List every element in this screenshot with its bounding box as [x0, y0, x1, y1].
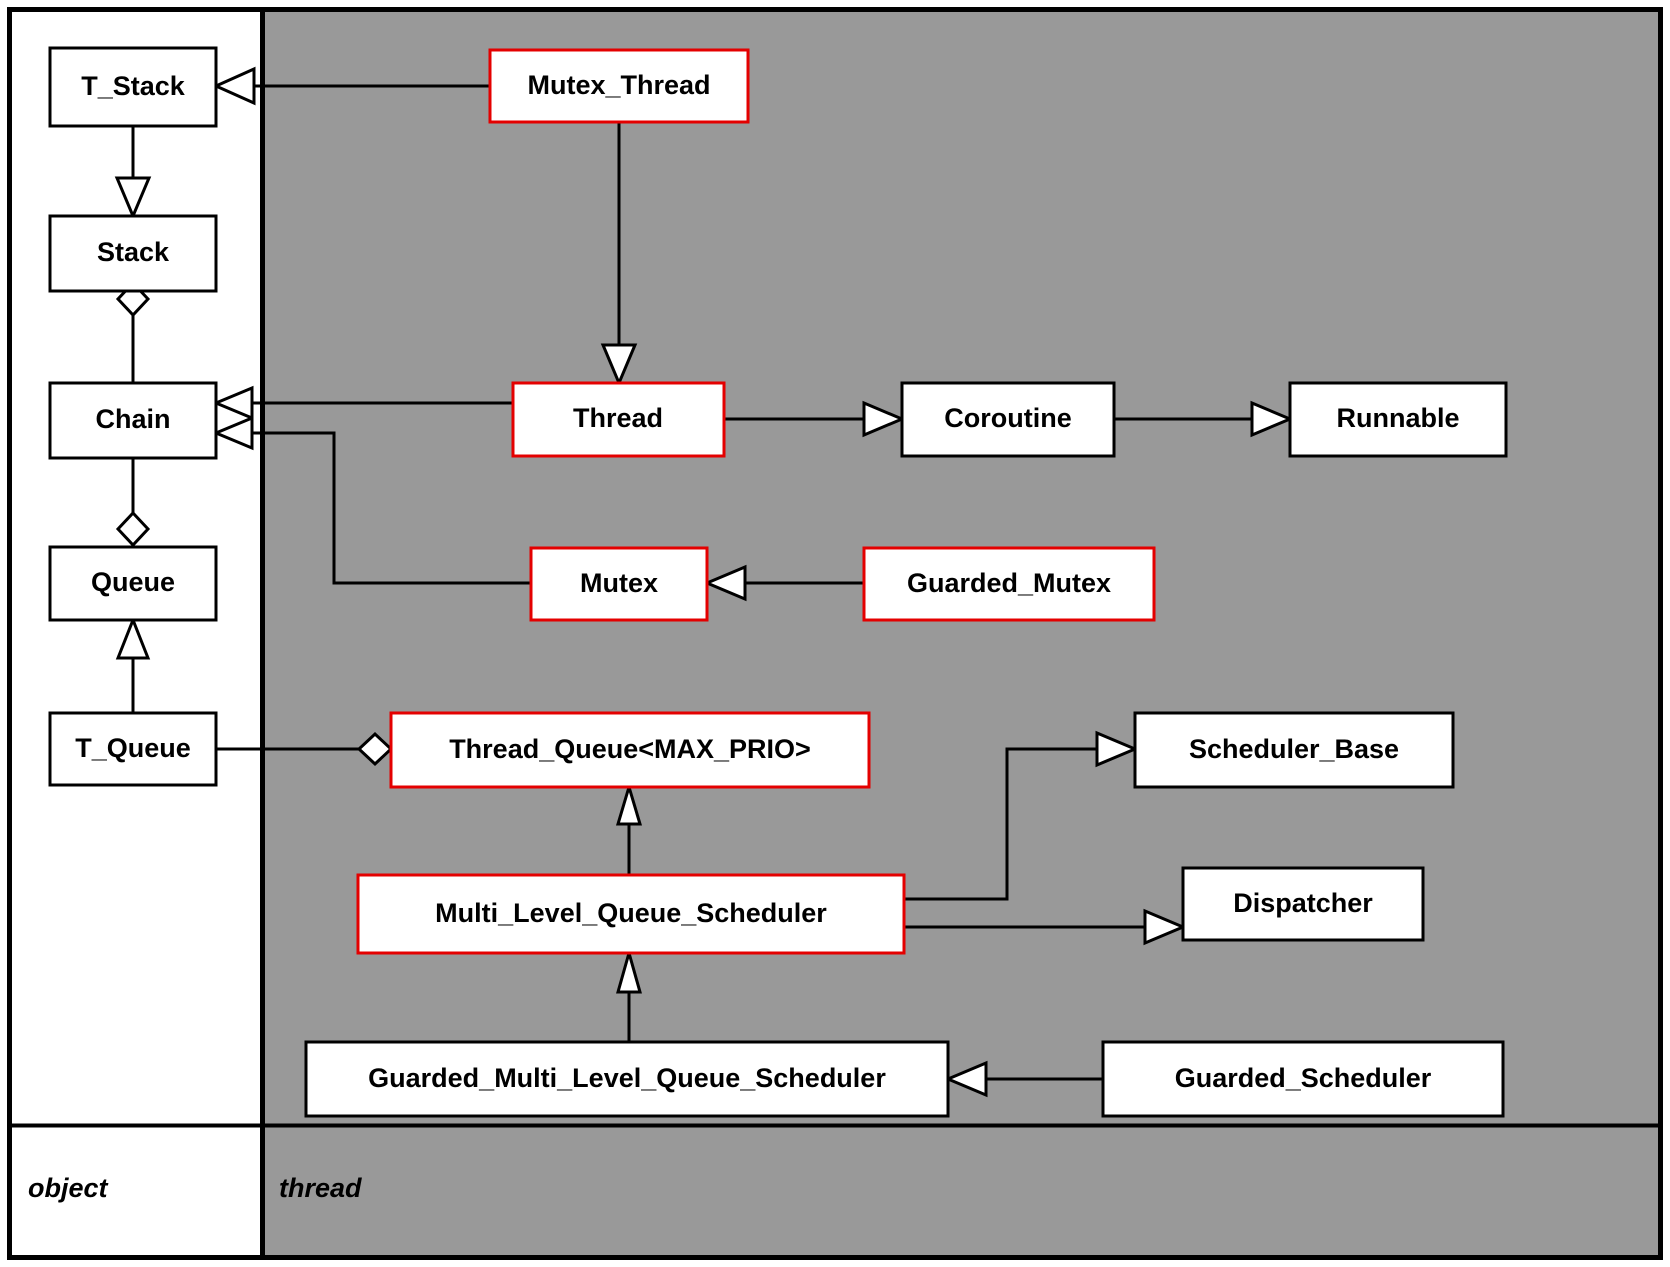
class-label-guarded-mlq-scheduler: Guarded_Multi_Level_Queue_Scheduler	[368, 1063, 886, 1093]
class-label-dispatcher: Dispatcher	[1233, 888, 1373, 918]
class-node-dispatcher[interactable]: Dispatcher	[1183, 868, 1423, 940]
class-node-stack[interactable]: Stack	[50, 216, 216, 291]
class-node-mutex[interactable]: Mutex	[531, 548, 707, 620]
uml-class-diagram: T_Stack Stack Chain Queue T_Queue Mutex_	[0, 0, 1670, 1267]
package-label-thread: thread	[279, 1173, 362, 1203]
class-label-guarded-mutex: Guarded_Mutex	[907, 568, 1111, 598]
class-node-queue[interactable]: Queue	[50, 547, 216, 620]
class-label-scheduler-base: Scheduler_Base	[1189, 734, 1399, 764]
class-node-scheduler-base[interactable]: Scheduler_Base	[1135, 713, 1453, 787]
class-label-t-stack: T_Stack	[81, 71, 186, 101]
class-node-guarded-scheduler[interactable]: Guarded_Scheduler	[1103, 1042, 1503, 1116]
class-label-stack: Stack	[97, 237, 170, 267]
class-node-t-stack[interactable]: T_Stack	[50, 48, 216, 126]
class-node-thread-queue[interactable]: Thread_Queue<MAX_PRIO>	[391, 713, 869, 787]
class-label-mlq-scheduler: Multi_Level_Queue_Scheduler	[435, 898, 827, 928]
class-node-mlq-scheduler[interactable]: Multi_Level_Queue_Scheduler	[358, 875, 904, 953]
class-node-thread[interactable]: Thread	[513, 383, 724, 456]
class-node-mutex-thread[interactable]: Mutex_Thread	[490, 50, 748, 122]
class-node-guarded-mutex[interactable]: Guarded_Mutex	[864, 548, 1154, 620]
class-label-coroutine: Coroutine	[944, 403, 1072, 433]
class-node-chain[interactable]: Chain	[50, 383, 216, 458]
class-label-thread: Thread	[573, 403, 663, 433]
class-label-queue: Queue	[91, 567, 175, 597]
class-label-mutex-thread: Mutex_Thread	[527, 70, 710, 100]
class-label-chain: Chain	[95, 404, 170, 434]
class-label-runnable: Runnable	[1336, 403, 1459, 433]
package-label-object: object	[28, 1173, 109, 1203]
class-label-thread-queue: Thread_Queue<MAX_PRIO>	[449, 734, 811, 764]
class-node-guarded-mlq-scheduler[interactable]: Guarded_Multi_Level_Queue_Scheduler	[306, 1042, 948, 1116]
class-label-guarded-scheduler: Guarded_Scheduler	[1175, 1063, 1432, 1093]
diagram-canvas: T_Stack Stack Chain Queue T_Queue Mutex_	[0, 0, 1670, 1267]
class-node-runnable[interactable]: Runnable	[1290, 383, 1506, 456]
class-node-coroutine[interactable]: Coroutine	[902, 383, 1114, 456]
class-label-t-queue: T_Queue	[75, 733, 191, 763]
class-label-mutex: Mutex	[580, 568, 658, 598]
class-node-t-queue[interactable]: T_Queue	[50, 713, 216, 785]
